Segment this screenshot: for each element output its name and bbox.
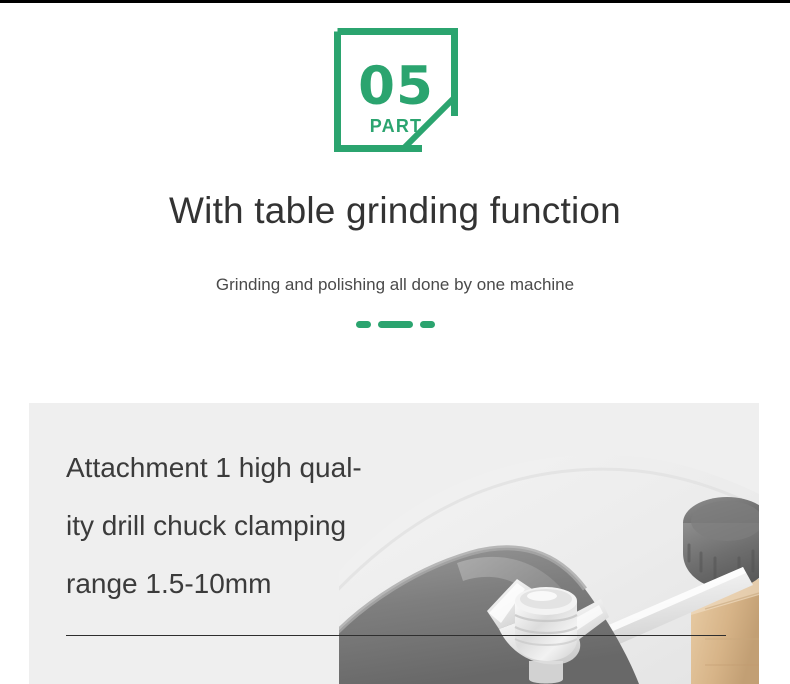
page-subtitle: Grinding and polishing all done by one m… xyxy=(0,274,790,296)
section-divider xyxy=(0,321,790,328)
page-title: With table grinding function xyxy=(0,188,790,234)
part-number-badge: 05 PART xyxy=(334,28,458,152)
feature-card: Attachment 1 high qual- ity drill chuck … xyxy=(29,403,759,684)
divider-dash-short-right xyxy=(420,321,435,328)
dark-knob xyxy=(683,497,759,589)
badge-number-text: 05 xyxy=(358,56,434,117)
divider-dash-long xyxy=(378,321,413,328)
badge-label-text: PART xyxy=(370,116,422,136)
card-description: Attachment 1 high qual- ity drill chuck … xyxy=(66,439,486,613)
divider-dash-short-left xyxy=(356,321,371,328)
card-horizontal-rule xyxy=(66,635,726,636)
page-root: 05 PART With table grinding function Gri… xyxy=(0,0,790,684)
